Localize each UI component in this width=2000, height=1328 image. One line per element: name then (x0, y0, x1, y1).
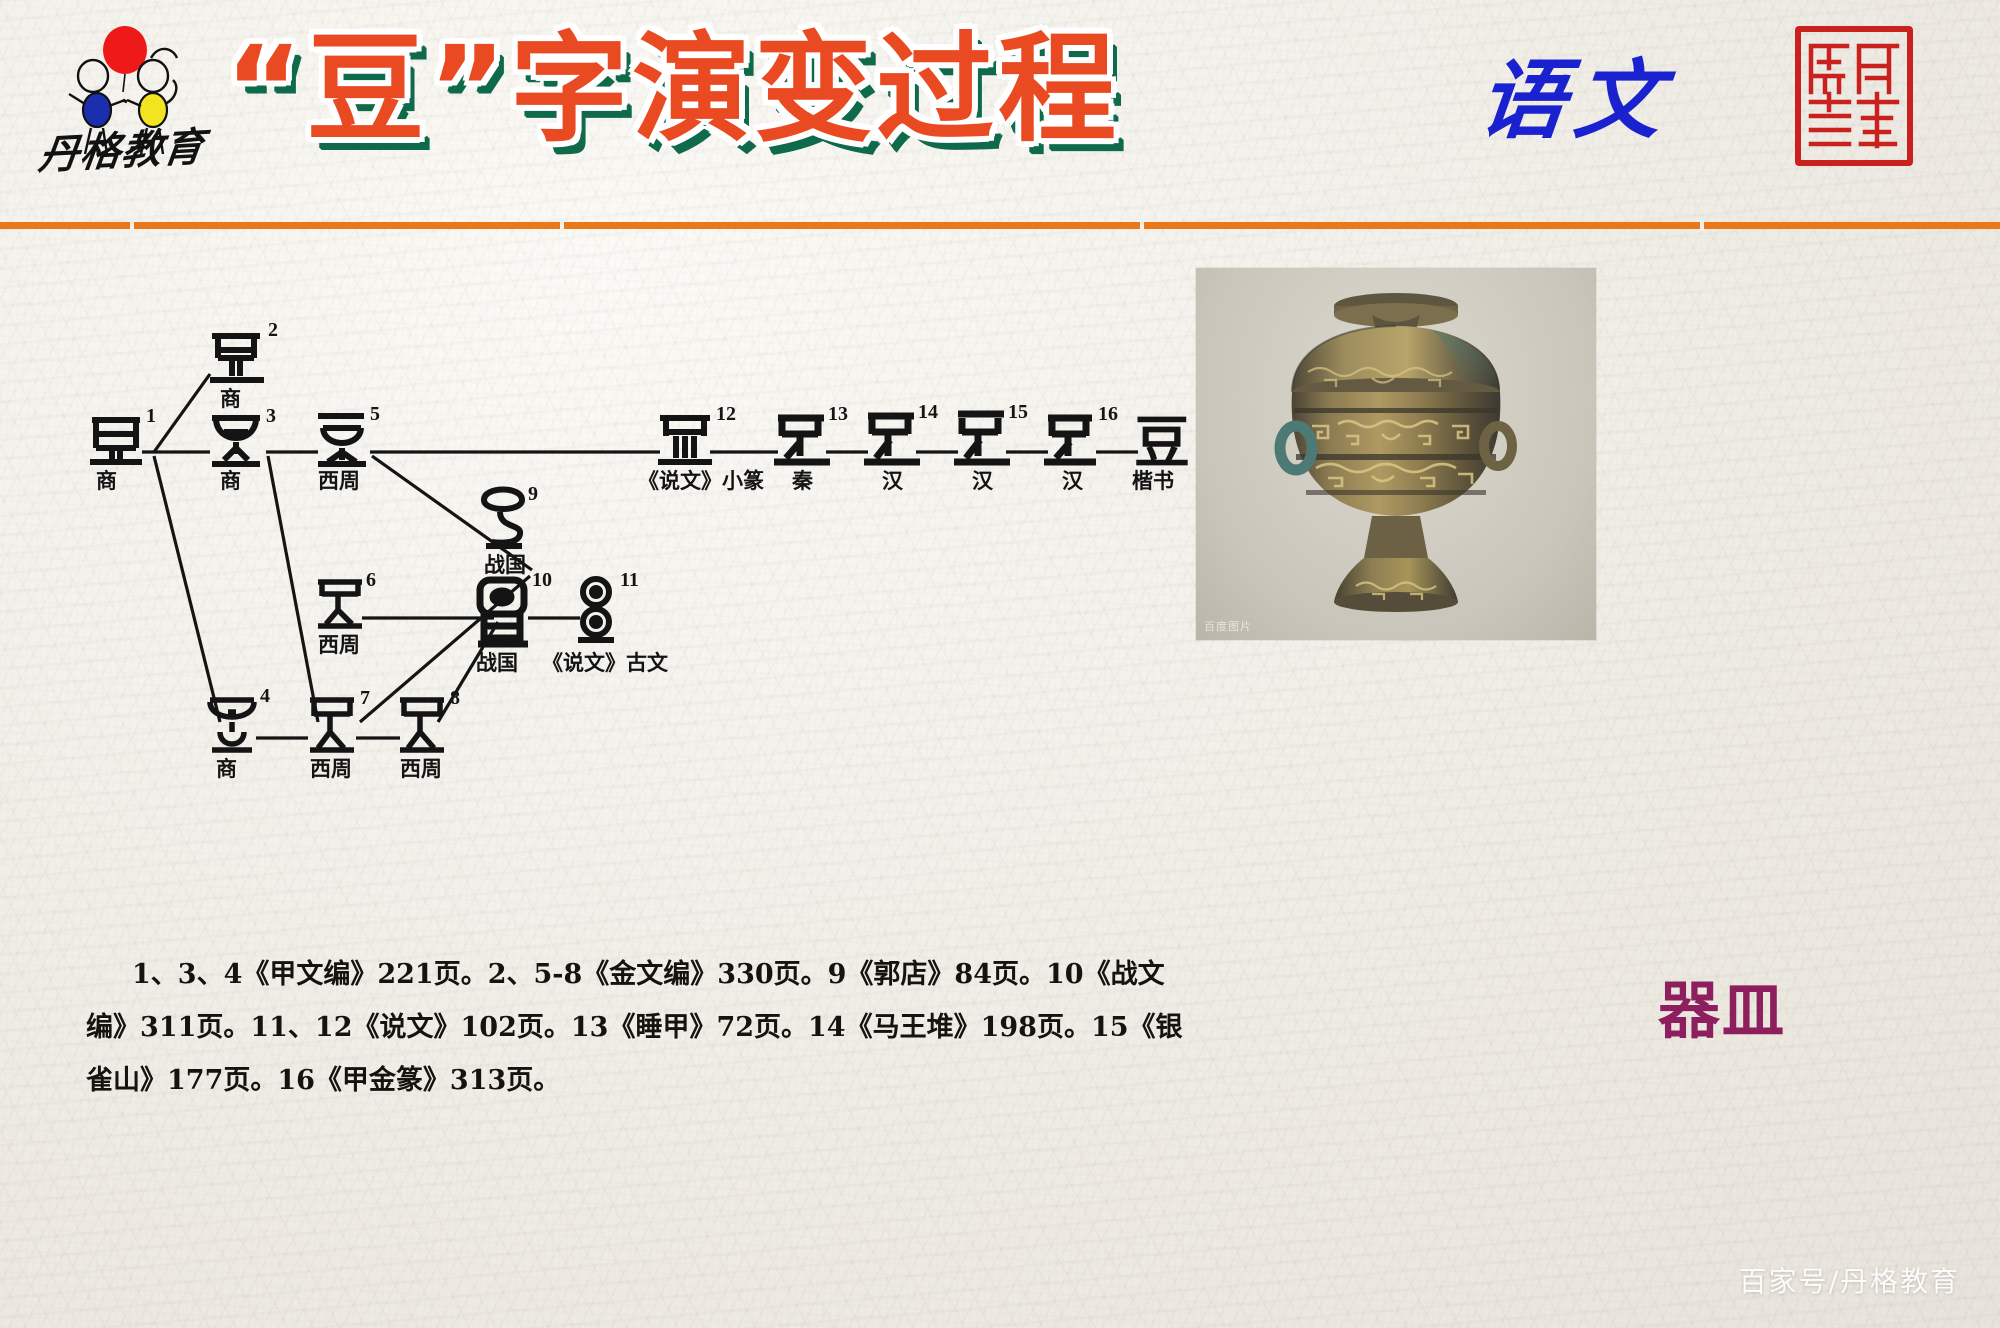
glyph-12: 12 《说文》小篆 (638, 403, 764, 493)
glyph-10-number: 10 (532, 569, 552, 591)
glyph-2: 2 商 (210, 319, 278, 411)
glyph-6-era: 西周 (318, 632, 360, 657)
glyph-4: 4 商 (210, 685, 270, 781)
glyph-14-era: 汉 (882, 468, 904, 493)
glyph-11-number: 11 (620, 569, 639, 591)
glyph-8-number: 8 (450, 687, 460, 709)
glyph-1-number: 1 (146, 405, 156, 427)
glyph-14-number: 14 (918, 401, 938, 423)
glyph-9-number: 9 (528, 483, 538, 505)
glyph-kaishu-era: 楷书 (1132, 468, 1174, 493)
photo-watermark: 百度图片 (1204, 618, 1252, 634)
glyph-8: 8 西周 (400, 687, 460, 781)
glyph-2-era: 商 (220, 386, 241, 411)
glyph-7-era: 西周 (310, 756, 352, 781)
glyph-12-number: 12 (716, 403, 736, 425)
glyph-11-era: 《说文》古文 (542, 650, 669, 675)
glyph-13: 13 秦 (774, 403, 848, 493)
glyph-2-number: 2 (268, 319, 278, 341)
glyph-12-era: 《说文》小篆 (638, 468, 764, 493)
glyph-13-number: 13 (828, 403, 848, 425)
subject-badge: 语文 (1473, 30, 1678, 155)
glyph-15-era: 汉 (972, 468, 994, 493)
brand-name: 丹格教育 (35, 113, 229, 185)
glyph-16-number: 16 (1098, 403, 1118, 425)
glyph-7: 7 西周 (310, 687, 370, 781)
glyph-kaishu: 豆 楷书 (1132, 411, 1190, 493)
red-seal-stamp-icon (1795, 26, 1913, 166)
glyph-16-era: 汉 (1062, 468, 1084, 493)
glyph-9: 9 战国 (484, 483, 538, 577)
glyph-3-number: 3 (266, 405, 276, 427)
glyph-6-number: 6 (366, 569, 376, 591)
glyph-16: 16 汉 (1044, 403, 1118, 493)
glyph-4-era: 商 (216, 756, 237, 781)
glyph-5-number: 5 (370, 403, 380, 425)
glyph-14: 14 汉 (864, 401, 938, 493)
category-label: 器皿 (1658, 960, 1786, 1050)
glyph-13-era: 秦 (791, 468, 814, 493)
glyph-15: 15 汉 (954, 401, 1028, 493)
page-header: 丹格教育 “豆”字演变过程 语文 (0, 0, 2000, 232)
glyph-7-number: 7 (360, 687, 370, 709)
glyph-8-era: 西周 (400, 756, 442, 781)
glyph-1-era: 商 (96, 468, 117, 493)
page-title: “豆”字演变过程 (225, 14, 1120, 164)
source-citations: 1、3、4《甲文编》221页。2、5-8《金文编》330页。9《郭店》84页。1… (86, 948, 1196, 1107)
glyph-5: 5 西周 (318, 403, 380, 493)
glyph-5-era: 西周 (318, 468, 360, 493)
bronze-vessel-photo: 百度图片 (1196, 268, 1596, 640)
glyph-6: 6 西周 (318, 569, 376, 657)
glyph-10-era: 战国 (476, 650, 518, 675)
glyph-kaishu-char: 豆 (1134, 411, 1190, 476)
page-watermark: 百家号/丹格教育 (1739, 1260, 1960, 1300)
glyph-9-era: 战国 (484, 552, 526, 577)
glyph-15-number: 15 (1008, 401, 1028, 423)
glyph-1: 1 商 (90, 405, 156, 493)
glyph-10: 10 战国 (476, 569, 552, 675)
glyph-3-era: 商 (220, 468, 241, 493)
header-divider (0, 222, 2000, 229)
glyph-3: 3 商 (212, 405, 276, 493)
character-evolution-diagram: 1 商 2 商 3 商 (60, 270, 1190, 930)
glyph-4-number: 4 (260, 685, 270, 707)
glyph-11: 11 《说文》古文 (542, 569, 669, 675)
